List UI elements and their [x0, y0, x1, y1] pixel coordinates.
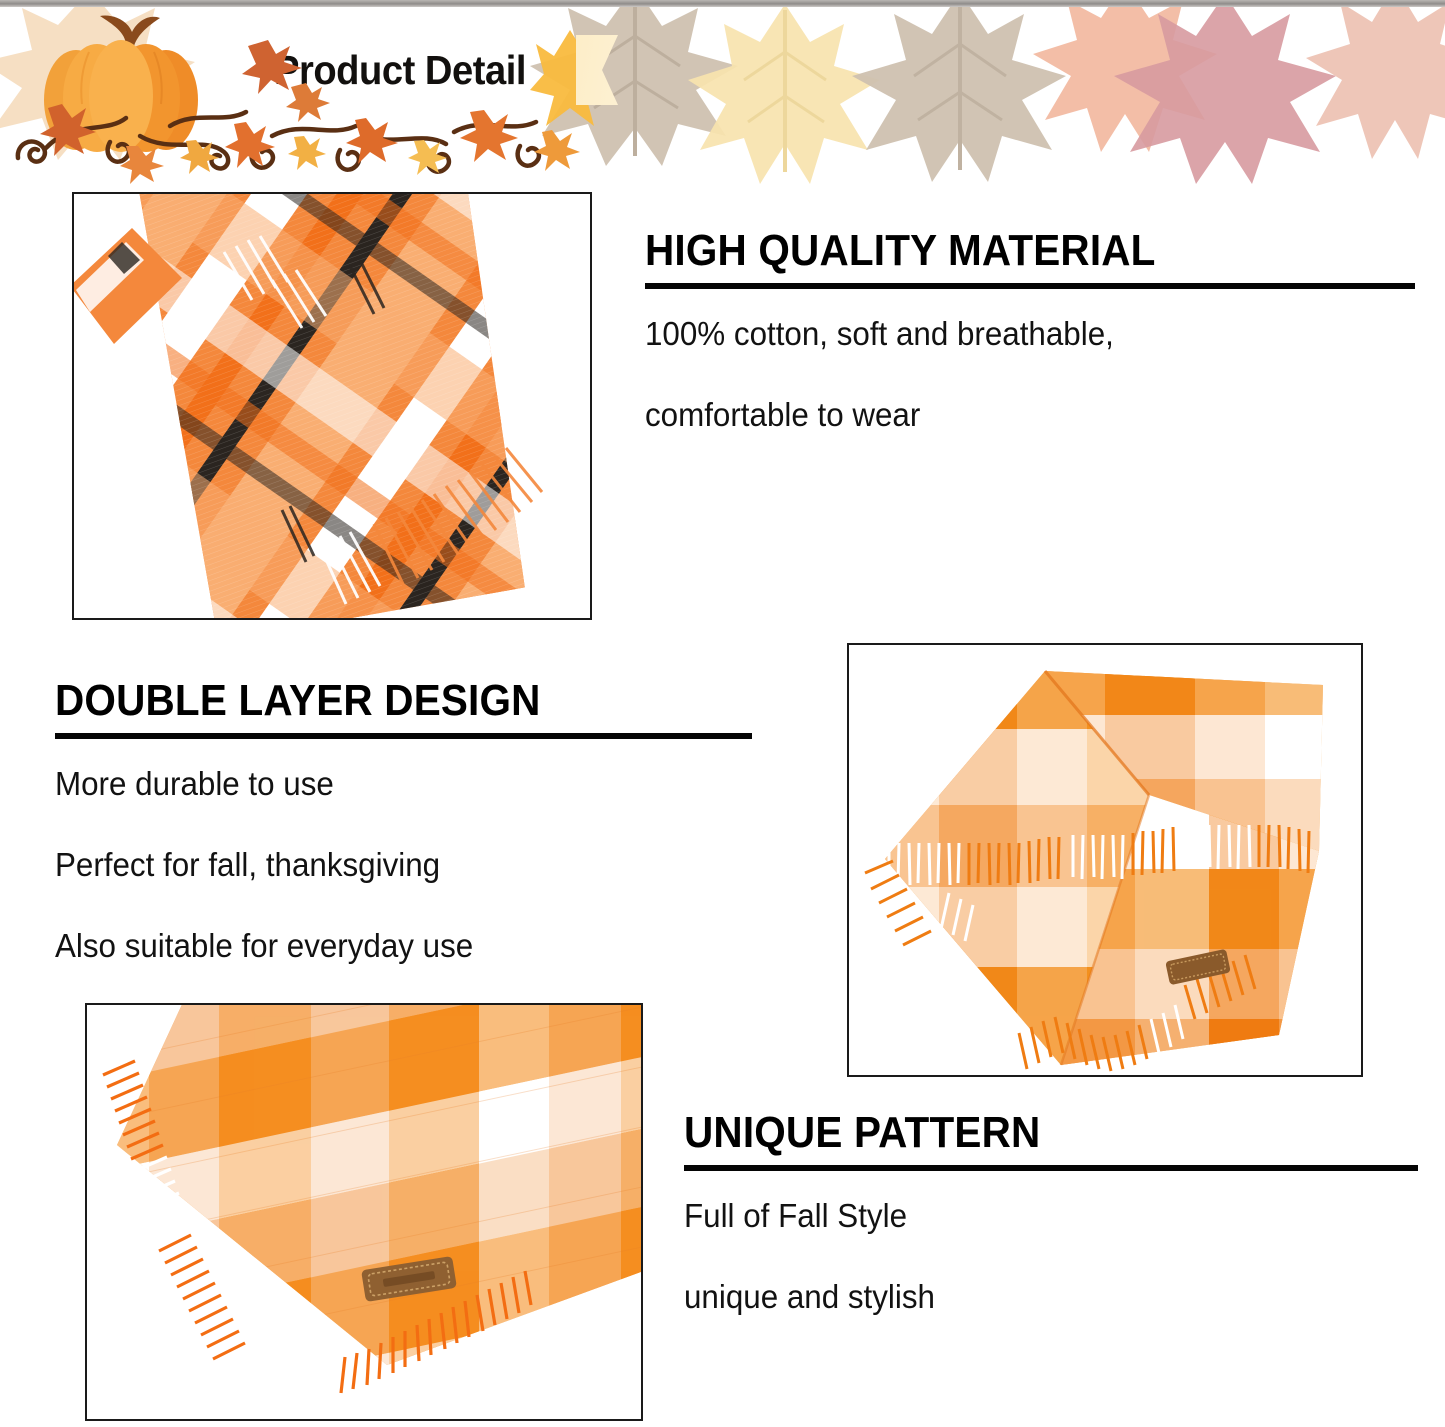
feature-underline [55, 733, 752, 739]
maple-leaf-accent-small-2 [284, 82, 332, 129]
feature-title: HIGH QUALITY MATERIAL [645, 228, 1358, 274]
background-leaf-blush [1300, 0, 1445, 159]
feature-underline [645, 283, 1415, 289]
feature-line: Full of Fall Style [684, 1199, 1387, 1232]
photo-plaid-fringe-closeup [72, 192, 592, 620]
feature-line: More durable to use [55, 767, 720, 800]
photo-folded-triangle-bandana [847, 643, 1363, 1077]
feature-line: unique and stylish [684, 1280, 1387, 1313]
feature-underline [684, 1165, 1418, 1171]
feature-title: DOUBLE LAYER DESIGN [55, 678, 699, 724]
feature-high-quality-material: HIGH QUALITY MATERIAL 100% cotton, soft … [645, 228, 1420, 431]
feature-line: Perfect for fall, thanksgiving [55, 848, 720, 881]
feature-body: Full of Fall Style unique and stylish [684, 1199, 1424, 1313]
feature-body: 100% cotton, soft and breathable, comfor… [645, 317, 1420, 431]
feature-title: UNIQUE PATTERN [684, 1110, 1365, 1156]
photo-flat-buffalo-check [85, 1003, 643, 1421]
feature-line: comfortable to wear [645, 398, 1381, 431]
feature-body: More durable to use Perfect for fall, th… [55, 767, 755, 962]
feature-line: 100% cotton, soft and breathable, [645, 317, 1381, 350]
feature-line: Also suitable for everyday use [55, 929, 720, 962]
feature-double-layer-design: DOUBLE LAYER DESIGN More durable to use … [55, 678, 755, 962]
header-banner: Product Detail [0, 0, 1445, 185]
feature-unique-pattern: UNIQUE PATTERN Full of Fall Style unique… [684, 1110, 1424, 1313]
product-detail-page: Product Detail [0, 0, 1445, 1427]
header-top-rule [0, 0, 1445, 7]
